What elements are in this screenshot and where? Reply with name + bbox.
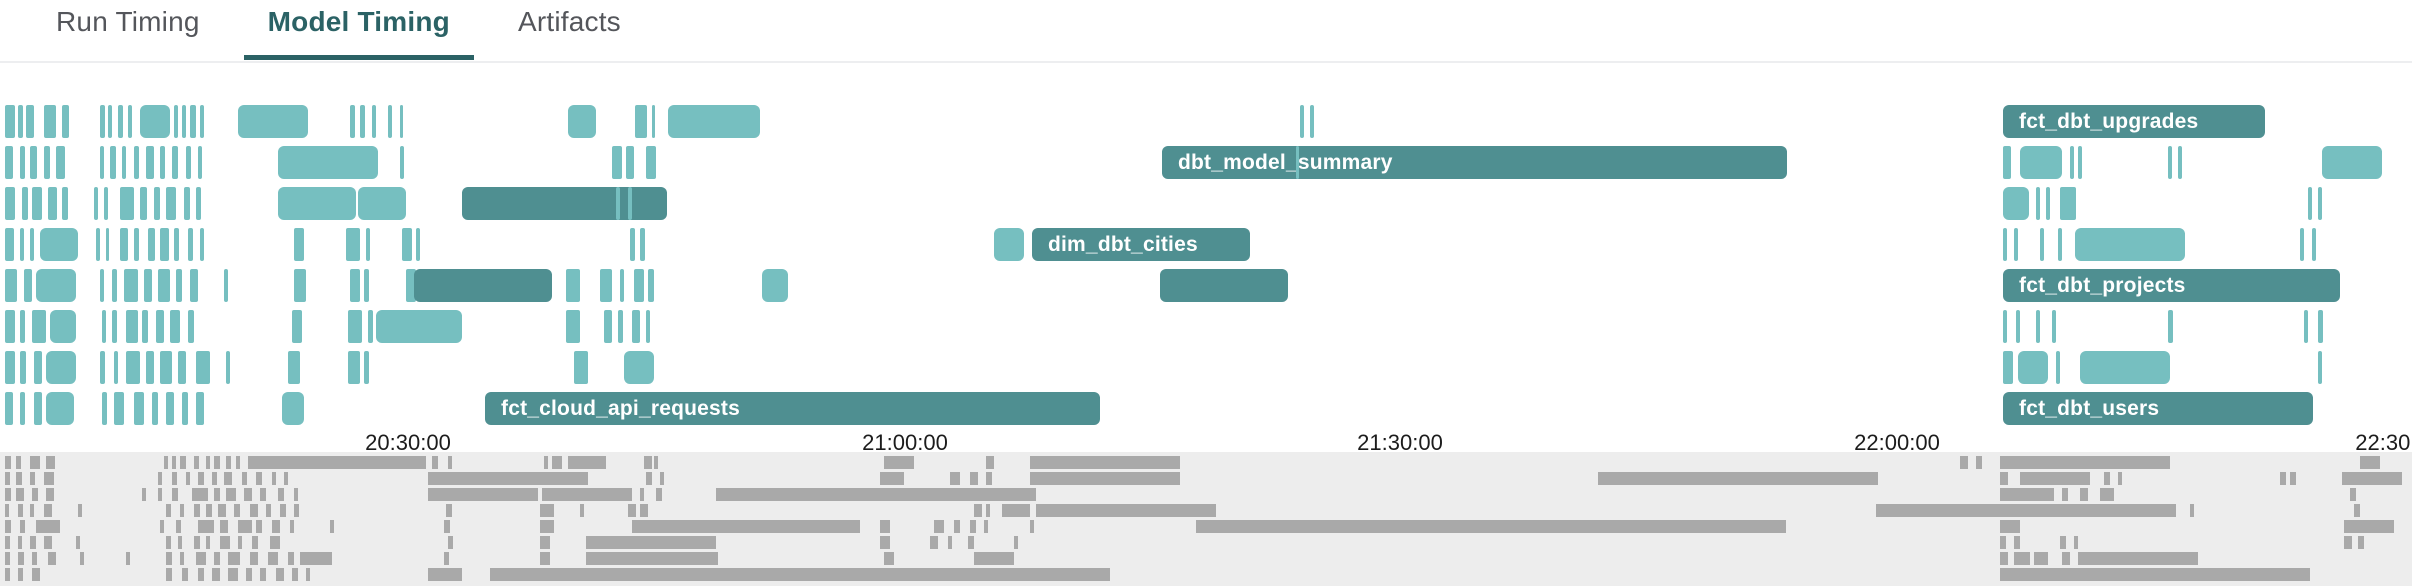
gantt-bar[interactable] (50, 310, 76, 343)
gantt-bar[interactable] (360, 105, 365, 138)
gantt-bar[interactable] (34, 351, 42, 384)
gantt-bar[interactable] (2168, 146, 2172, 179)
minimap-bar (446, 504, 452, 517)
gantt-bar[interactable] (2078, 146, 2082, 179)
minimap-bar (248, 456, 426, 469)
gantt-bar[interactable] (278, 187, 356, 220)
minimap-bar (244, 488, 252, 501)
minimap-bar (194, 504, 200, 517)
gantt-bar[interactable] (994, 228, 1024, 261)
minimap-bar (30, 456, 40, 469)
gantt-bar[interactable] (364, 269, 369, 302)
minimap-bar (20, 520, 25, 533)
gantt-bar[interactable] (574, 351, 588, 384)
minimap-bar (954, 520, 960, 533)
gantt-bar[interactable] (372, 105, 376, 138)
gantt-bar[interactable] (152, 392, 158, 425)
minimap-bar (2034, 552, 2048, 565)
minimap-bar (16, 472, 22, 485)
minimap-bar (880, 472, 904, 485)
gantt-bar[interactable] (628, 187, 632, 220)
gantt-bar-fct-dbt-users[interactable]: fct_dbt_users (2003, 392, 2313, 425)
gantt-bar[interactable] (30, 228, 34, 261)
gantt-bar[interactable] (166, 392, 174, 425)
minimap-bar (30, 504, 34, 517)
gantt-bar[interactable] (142, 310, 148, 343)
gantt-bar[interactable] (5, 146, 13, 179)
gantt-bar[interactable] (178, 351, 186, 384)
gantt-bar[interactable] (124, 269, 138, 302)
gantt-bar[interactable] (2003, 187, 2029, 220)
minimap-bar (44, 472, 54, 485)
gantt-bar[interactable] (630, 228, 635, 261)
gantt-bar[interactable] (2016, 310, 2020, 343)
gantt-bar-fct-cloud-api-requests[interactable]: fct_cloud_api_requests (485, 392, 1100, 425)
minimap-bar (198, 472, 204, 485)
minimap-bar (234, 504, 240, 517)
minimap-bar (48, 552, 56, 565)
gantt-bar[interactable] (106, 228, 109, 261)
gantt-bar[interactable] (626, 146, 634, 179)
minimap-bar (18, 504, 23, 517)
gantt-bar[interactable] (188, 310, 194, 343)
gantt-bar[interactable] (112, 310, 117, 343)
gantt-bar-fct-dbt-upgrades[interactable]: fct_dbt_upgrades (2003, 105, 2265, 138)
minimap-bar (214, 552, 220, 565)
gantt-bar[interactable] (198, 146, 202, 179)
gantt-bar[interactable] (2003, 146, 2011, 179)
gantt-bar[interactable] (652, 105, 655, 138)
gantt-bar[interactable] (290, 105, 293, 138)
minimap-bar (428, 488, 538, 501)
minimap-bar (2060, 536, 2066, 549)
gantt-bar[interactable] (2308, 187, 2312, 220)
gantt-bar[interactable] (190, 269, 198, 302)
gantt-bar-label: dim_dbt_cities (1048, 233, 1198, 257)
minimap-bar (226, 488, 236, 501)
gantt-bar[interactable] (200, 105, 204, 138)
gantt-bar[interactable] (182, 105, 186, 138)
gantt-bar[interactable] (2014, 228, 2018, 261)
gantt-bar[interactable] (20, 146, 25, 179)
gantt-bar[interactable] (126, 310, 138, 343)
gantt-bar[interactable] (226, 351, 230, 384)
gantt-bar[interactable] (292, 310, 302, 343)
gantt-bar[interactable] (2060, 187, 2076, 220)
gantt-bar[interactable] (146, 146, 154, 179)
minimap-row (0, 488, 2412, 501)
minimap-bar (1976, 456, 1982, 469)
minimap-bar (290, 520, 294, 533)
minimap-bar (186, 472, 190, 485)
gantt-bar[interactable] (148, 228, 155, 261)
gantt-bar-label: fct_dbt_projects (2019, 274, 2186, 298)
gantt-bar[interactable] (100, 146, 104, 179)
gantt-bar[interactable] (104, 187, 108, 220)
gantt-bar[interactable] (350, 105, 355, 138)
minimap-bar (272, 520, 280, 533)
gantt-bar[interactable] (122, 146, 126, 179)
gantt-bar[interactable] (160, 351, 172, 384)
minimap-bar (1876, 504, 2176, 517)
minimap-bar (448, 536, 453, 549)
gantt-bar[interactable] (618, 310, 623, 343)
gantt-bar[interactable] (364, 351, 369, 384)
minimap-row (0, 456, 2412, 469)
minimap-bar (18, 536, 22, 549)
gantt-bar[interactable] (134, 228, 139, 261)
gantt-bar[interactable] (100, 351, 105, 384)
tab-run-timing[interactable]: Run Timing (22, 0, 234, 58)
minimap-bar (716, 488, 1036, 501)
gantt-bar[interactable] (604, 310, 612, 343)
minimap-bar (276, 568, 284, 581)
gantt-bar[interactable] (120, 187, 134, 220)
gantt-bar[interactable] (348, 310, 362, 343)
minimap-bar (640, 504, 648, 517)
gantt-bar[interactable] (2036, 187, 2040, 220)
gantt-bar[interactable] (32, 187, 42, 220)
gantt-bar[interactable] (128, 105, 132, 138)
gantt-bar[interactable] (196, 392, 204, 425)
gantt-bar[interactable] (388, 105, 392, 138)
gantt-bar[interactable] (26, 105, 34, 138)
gantt-bar-label: fct_dbt_upgrades (2019, 110, 2198, 134)
gantt-bar[interactable] (2020, 146, 2062, 179)
minimap-bar (2000, 472, 2008, 485)
gantt-bar[interactable] (134, 392, 144, 425)
gantt-bar[interactable] (170, 310, 180, 343)
minimap-bar (1014, 536, 1018, 549)
minimap-bar (158, 488, 162, 501)
gantt-bar[interactable] (188, 228, 193, 261)
minimap-bar (214, 488, 220, 501)
gantt-bar[interactable] (196, 187, 201, 220)
minimap-bar (880, 520, 890, 533)
minimap-bar (930, 536, 938, 549)
gantt-bar[interactable] (112, 269, 117, 302)
gantt-bar[interactable] (184, 187, 190, 220)
gantt-bar[interactable] (400, 105, 403, 138)
minimap-bar (166, 552, 172, 565)
minimap-bar (182, 568, 188, 581)
gantt-bar[interactable] (166, 187, 176, 220)
gantt-bar[interactable] (5, 187, 15, 220)
minimap-bar (986, 456, 994, 469)
gantt-bar[interactable] (634, 269, 644, 302)
gantt-bar[interactable] (366, 228, 370, 261)
gantt-bar[interactable] (44, 146, 50, 179)
minimap-bar (166, 568, 172, 581)
gantt-bar[interactable] (158, 269, 170, 302)
gantt-bar[interactable] (24, 269, 32, 302)
gantt-bar[interactable] (102, 310, 106, 343)
gantt-bar[interactable] (120, 228, 128, 261)
minimap-bar (5, 472, 10, 485)
gantt-bar[interactable] (294, 269, 306, 302)
minimap-bar (628, 504, 636, 517)
gantt-bar[interactable] (46, 351, 76, 384)
minimap-bar (5, 568, 10, 581)
gantt-bar[interactable] (624, 351, 654, 384)
minimap-bar (444, 552, 449, 565)
minimap-bar (2350, 488, 2356, 501)
gantt-bar[interactable] (2178, 146, 2182, 179)
gantt-bar[interactable] (566, 310, 580, 343)
minimap-bar (568, 456, 606, 469)
minimap-bar (206, 536, 210, 549)
minimap-bar (246, 568, 252, 581)
gantt-bar[interactable] (156, 310, 164, 343)
gantt-bar[interactable] (160, 146, 165, 179)
gantt-bar[interactable] (2036, 310, 2040, 343)
minimap-bar (884, 456, 914, 469)
gantt-bar[interactable] (114, 351, 118, 384)
gantt-bar[interactable] (5, 269, 17, 302)
minimap-bar (984, 520, 988, 533)
gantt-bar[interactable] (2075, 228, 2185, 261)
gantt-bar[interactable] (108, 105, 112, 138)
gantt-bar[interactable] (62, 105, 69, 138)
gantt-bar[interactable] (632, 310, 640, 343)
gantt-bar[interactable] (2080, 351, 2170, 384)
minimap-row (0, 472, 2412, 485)
gantt-row: dbt_model_summary (0, 146, 2412, 179)
gantt-bar[interactable] (126, 351, 140, 384)
gantt-bar[interactable] (224, 269, 228, 302)
gantt-bar[interactable] (566, 269, 580, 302)
gantt-bar[interactable] (402, 228, 412, 261)
gantt-bar[interactable] (5, 392, 13, 425)
gantt-bar[interactable] (20, 310, 25, 343)
gantt-bar[interactable] (278, 146, 378, 179)
gantt-bar[interactable] (18, 105, 23, 138)
minimap-bar (1030, 456, 1180, 469)
gantt-bar[interactable] (2003, 310, 2007, 343)
gantt-bar[interactable] (1160, 269, 1288, 302)
minimap-bar (2000, 536, 2006, 549)
tab-model-timing[interactable]: Model Timing (234, 0, 484, 58)
gantt-bar[interactable] (2040, 228, 2044, 261)
minimap-bar (194, 536, 200, 549)
minimap-row (0, 568, 2412, 581)
tab-artifacts[interactable]: Artifacts (484, 0, 655, 58)
gantt-bar[interactable] (5, 228, 14, 261)
minimap-bar (256, 520, 262, 533)
gantt-bar[interactable] (2304, 310, 2308, 343)
minimap-bar (180, 552, 184, 565)
gantt-bar[interactable] (20, 228, 24, 261)
gantt-bar[interactable] (300, 105, 303, 138)
gantt-bar[interactable] (174, 228, 179, 261)
gantt-bar[interactable] (56, 146, 65, 179)
minimap-bar (196, 552, 206, 565)
gantt-bar[interactable] (2058, 228, 2062, 261)
gantt-bar[interactable] (1296, 146, 1299, 179)
gantt-bar[interactable] (1300, 105, 1304, 138)
gantt-bar[interactable] (40, 228, 78, 261)
gantt-bar[interactable] (2318, 310, 2323, 343)
gantt-bar[interactable] (288, 351, 300, 384)
gantt-bar[interactable] (196, 351, 210, 384)
gantt-bar[interactable] (20, 351, 26, 384)
gantt-bar[interactable] (600, 269, 612, 302)
gantt-bar[interactable] (182, 392, 188, 425)
gantt-bar[interactable] (94, 187, 98, 220)
gantt-bar[interactable] (2003, 228, 2007, 261)
gantt-bar[interactable] (2322, 146, 2382, 179)
gantt-bar[interactable] (612, 146, 622, 179)
minimap-row (0, 520, 2412, 533)
minimap-bar (934, 520, 944, 533)
gantt-bar[interactable] (2046, 187, 2050, 220)
gantt-bar[interactable] (568, 105, 596, 138)
gantt-bar[interactable] (22, 187, 28, 220)
minimap-bar (970, 472, 978, 485)
minimap-bar (36, 520, 60, 533)
gantt-bar[interactable] (2056, 351, 2060, 384)
gantt-bar[interactable] (32, 310, 46, 343)
minimap-bar (252, 536, 258, 549)
gantt-bar[interactable] (376, 310, 462, 343)
gantt-bar[interactable] (616, 187, 620, 220)
gantt-bar[interactable] (48, 187, 57, 220)
gantt-bar[interactable] (100, 105, 105, 138)
minimap-bar (2062, 488, 2068, 501)
model-timing-page: Run TimingModel TimingArtifacts fct_dbt_… (0, 0, 2412, 586)
minimap-bar (884, 552, 894, 565)
gantt-bar-dbt-model-summary[interactable]: dbt_model_summary (1162, 146, 1787, 179)
gantt-bar[interactable] (400, 146, 404, 179)
gantt-bar[interactable] (368, 310, 373, 343)
minimap-bar (172, 456, 176, 469)
gantt-bar[interactable] (110, 146, 116, 179)
gantt-bar[interactable] (462, 187, 667, 220)
gantt-bar[interactable] (2070, 146, 2074, 179)
gantt-bar[interactable] (2018, 351, 2048, 384)
gantt-bar[interactable] (186, 146, 191, 179)
gantt-bar[interactable] (146, 351, 154, 384)
gantt-bar[interactable] (102, 392, 107, 425)
gantt-bar[interactable] (144, 269, 152, 302)
gantt-row (0, 187, 2412, 220)
minimap-bar (206, 456, 210, 469)
model-timing-gantt-chart[interactable]: fct_dbt_upgradesdbt_model_summarydim_dbt… (0, 63, 2412, 445)
minimap-bar (552, 456, 562, 469)
minimap-bar (2344, 536, 2352, 549)
gantt-bar[interactable] (414, 269, 552, 302)
gantt-bar[interactable] (635, 105, 647, 138)
gantt-bar[interactable] (294, 228, 304, 261)
gantt-bar[interactable] (640, 228, 645, 261)
gantt-bar[interactable] (62, 187, 68, 220)
gantt-bar[interactable] (348, 351, 360, 384)
gantt-bar[interactable] (20, 392, 25, 425)
timeline-minimap[interactable] (0, 452, 2412, 586)
minimap-bar (192, 488, 208, 501)
gantt-bar-fct-dbt-projects[interactable]: fct_dbt_projects (2003, 269, 2340, 302)
minimap-bar (540, 504, 554, 517)
minimap-bar (46, 488, 54, 501)
minimap-bar (218, 504, 226, 517)
gantt-bar[interactable] (5, 105, 15, 138)
gantt-bar[interactable] (190, 105, 196, 138)
minimap-bar (974, 552, 1014, 565)
gantt-bar[interactable] (668, 105, 760, 138)
minimap-bar (30, 536, 36, 549)
gantt-bar[interactable] (200, 228, 204, 261)
gantt-bar[interactable] (358, 187, 406, 220)
gantt-bar[interactable] (96, 228, 100, 261)
gantt-bar[interactable] (160, 228, 169, 261)
gantt-bar[interactable] (282, 392, 304, 425)
gantt-bar[interactable] (648, 269, 654, 302)
gantt-bar[interactable] (114, 392, 124, 425)
gantt-bar[interactable] (2168, 310, 2173, 343)
gantt-bar[interactable] (620, 269, 624, 302)
gantt-bar[interactable] (1310, 105, 1314, 138)
gantt-bar[interactable] (5, 310, 15, 343)
gantt-bar[interactable] (5, 351, 15, 384)
minimap-bar (586, 536, 716, 549)
gantt-bar[interactable] (100, 269, 104, 302)
gantt-bar[interactable] (2318, 351, 2322, 384)
minimap-bar (986, 472, 992, 485)
gantt-bar[interactable] (238, 105, 308, 138)
gantt-bar[interactable] (646, 146, 656, 179)
gantt-bar[interactable] (350, 269, 360, 302)
gantt-bar[interactable] (36, 269, 76, 302)
minimap-bar (236, 456, 240, 469)
gantt-bar[interactable] (34, 392, 42, 425)
gantt-bar[interactable] (30, 146, 37, 179)
gantt-bar[interactable] (176, 269, 182, 302)
minimap-bar (2000, 456, 2170, 469)
gantt-bar[interactable] (154, 187, 160, 220)
gantt-bar[interactable] (140, 187, 147, 220)
minimap-bar (76, 536, 80, 549)
minimap-bar (164, 456, 168, 469)
gantt-bar[interactable] (2003, 351, 2013, 384)
gantt-bar[interactable] (2300, 228, 2304, 261)
gantt-bar-dim-dbt-cities[interactable]: dim_dbt_cities (1032, 228, 1250, 261)
minimap-bar (2000, 520, 2020, 533)
gantt-bar[interactable] (172, 146, 178, 179)
gantt-bar[interactable] (2052, 310, 2056, 343)
gantt-bar[interactable] (174, 105, 178, 138)
gantt-bar[interactable] (134, 146, 139, 179)
gantt-bar[interactable] (2312, 228, 2316, 261)
gantt-bar[interactable] (118, 105, 123, 138)
gantt-row (0, 310, 2412, 343)
minimap-bar (640, 488, 644, 501)
minimap-bar (172, 488, 178, 501)
gantt-bar[interactable] (44, 105, 56, 138)
minimap-bar (2190, 504, 2194, 517)
gantt-bar[interactable] (2318, 187, 2322, 220)
minimap-bar (1196, 520, 1786, 533)
gantt-bar[interactable] (46, 392, 74, 425)
minimap-bar (2358, 536, 2364, 549)
gantt-bar[interactable] (346, 228, 360, 261)
gantt-bar[interactable] (140, 105, 170, 138)
gantt-bar[interactable] (416, 228, 420, 261)
minimap-bar (228, 568, 238, 581)
gantt-bar[interactable] (646, 310, 650, 343)
minimap-bar (78, 504, 82, 517)
minimap-bar (1036, 504, 1216, 517)
gantt-bar[interactable] (762, 269, 788, 302)
